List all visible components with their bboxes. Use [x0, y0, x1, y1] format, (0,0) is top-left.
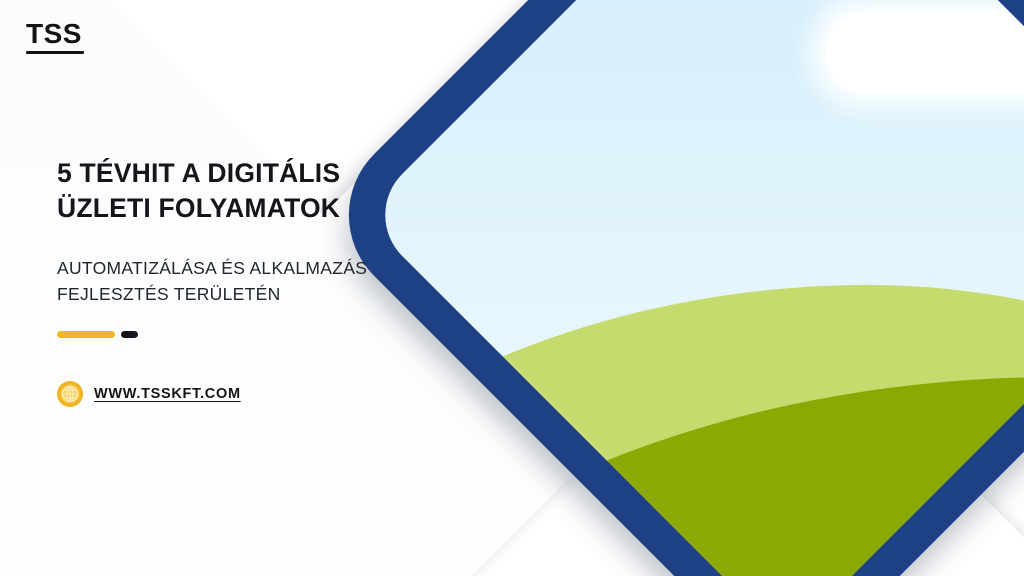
website-url-text[interactable]: WWW.TSSKFT.COM: [94, 386, 241, 402]
website-link[interactable]: WWW.TSSKFT.COM: [57, 381, 241, 407]
banner-canvas: TSS 5 TÉVHIT A DIGITÁLIS ÜZLETI FOLYAMAT…: [0, 0, 1024, 576]
globe-icon: [57, 381, 83, 407]
divider-bar-dark: [121, 331, 138, 338]
tss-logo: TSS: [26, 20, 84, 54]
divider: [57, 331, 138, 338]
page-subtitle: AUTOMATIZÁLÁSA ÉS ALKALMAZÁS FEJLESZTÉS …: [57, 256, 477, 308]
page-title: 5 TÉVHIT A DIGITÁLIS ÜZLETI FOLYAMATOK: [57, 156, 457, 226]
page-title-line-2: ÜZLETI FOLYAMATOK: [57, 191, 457, 226]
cloud-card-shape: [827, 13, 1024, 91]
tss-logo-text: TSS: [26, 20, 84, 48]
divider-bar-gold: [57, 331, 115, 338]
tss-logo-underline: [26, 51, 84, 54]
page-subtitle-line-1: AUTOMATIZÁLÁSA ÉS ALKALMAZÁS: [57, 256, 477, 282]
page-title-line-1: 5 TÉVHIT A DIGITÁLIS: [57, 156, 457, 191]
page-subtitle-line-2: FEJLESZTÉS TERÜLETÉN: [57, 282, 477, 308]
